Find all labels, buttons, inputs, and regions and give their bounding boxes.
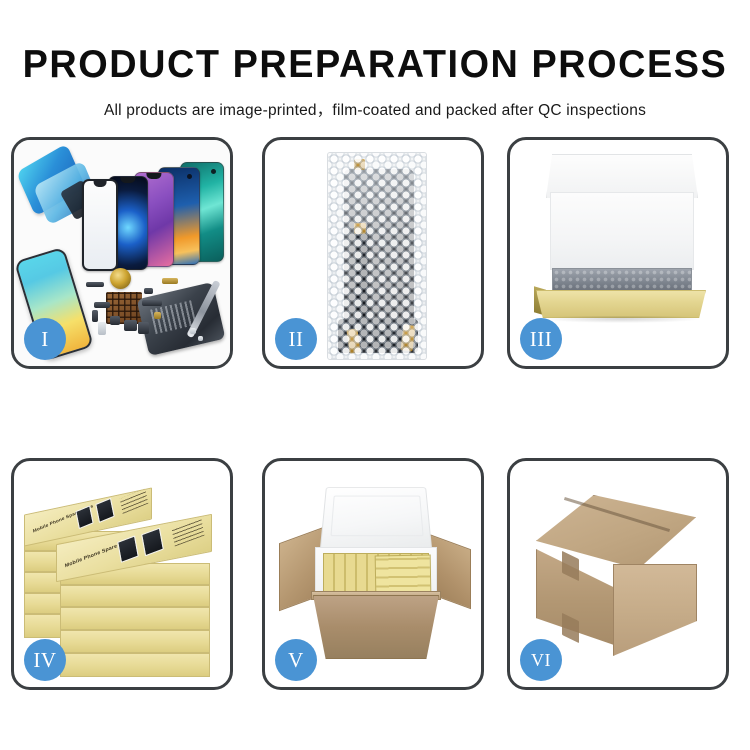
phone-screen-glass-icon: [82, 179, 118, 271]
step-numeral: II: [289, 329, 304, 350]
spare-part-icon: [94, 302, 110, 308]
step-numeral: V: [288, 650, 304, 671]
page-title: PRODUCT PREPARATION PROCESS: [11, 45, 739, 84]
box-spec-lines: [120, 489, 149, 514]
spare-part-icon: [162, 278, 178, 284]
white-foam-icon: [550, 192, 694, 270]
step-badge-5: V: [275, 639, 317, 681]
header: PRODUCT PREPARATION PROCESS All products…: [0, 0, 750, 120]
spare-part-icon: [142, 300, 162, 306]
process-grid: I II: [11, 137, 739, 735]
spare-part-icon: [144, 288, 153, 294]
carton-front-icon: [313, 595, 439, 659]
spare-part-icon: [198, 336, 203, 341]
step-badge-4: IV: [24, 639, 66, 681]
box-screen-image: [95, 498, 115, 523]
step-panel-2[interactable]: II: [262, 137, 484, 369]
step-panel-6[interactable]: VI: [507, 458, 729, 690]
carton-top-icon: [536, 495, 696, 569]
kraft-box-front-icon: [536, 290, 706, 318]
step-panel-4[interactable]: Mobile Phone Spare Parts Mobile Phone Sp…: [11, 458, 233, 690]
spare-part-icon: [190, 328, 196, 334]
box-shadow: [544, 316, 700, 323]
notch-icon: [146, 173, 161, 179]
phone-lineup: [76, 162, 230, 270]
kraft-boxes-inside-secondary-icon: [375, 555, 432, 596]
spare-part-icon: [98, 322, 106, 335]
box-screen-image: [75, 505, 93, 529]
camera-punch-hole-icon: [211, 169, 216, 174]
spare-part-icon: [110, 316, 120, 325]
spare-parts-cluster: [84, 266, 214, 352]
step-numeral: IV: [33, 650, 56, 671]
foam-lid-icon: [320, 487, 433, 550]
step-badge-6: VI: [520, 639, 562, 681]
step-panel-5[interactable]: V: [262, 458, 484, 690]
camera-punch-hole-icon: [187, 174, 192, 179]
step-panel-3[interactable]: III: [507, 137, 729, 369]
stacked-box: [60, 630, 210, 653]
step-numeral: VI: [531, 651, 551, 669]
stacked-box: [60, 585, 210, 607]
step-badge-2: II: [275, 318, 317, 360]
notch-icon: [120, 177, 135, 183]
carton-side-right-icon: [613, 564, 697, 656]
notch-icon: [94, 181, 107, 187]
box-spec-lines: [172, 517, 205, 546]
spare-part-icon: [86, 282, 104, 287]
stacked-box: [60, 607, 210, 630]
bubble-wrap-package: [327, 152, 427, 360]
step-numeral: III: [530, 329, 552, 350]
stacked-box: [60, 653, 210, 677]
spare-part-icon: [124, 320, 137, 331]
bubble-texture-offset: [328, 153, 426, 359]
page-subtitle: All products are image-printed，film-coat…: [0, 98, 750, 120]
box-screen-image: [117, 535, 139, 562]
box-screen-image: [141, 527, 164, 556]
step-badge-1: I: [24, 318, 66, 360]
step-panel-1[interactable]: I: [11, 137, 233, 369]
step-numeral: I: [41, 329, 49, 350]
spare-part-icon: [154, 312, 161, 319]
spare-part-icon: [138, 322, 149, 334]
step-badge-3: III: [520, 318, 562, 360]
spare-part-icon: [92, 310, 98, 322]
product-preparation-infographic: PRODUCT PREPARATION PROCESS All products…: [0, 0, 750, 750]
